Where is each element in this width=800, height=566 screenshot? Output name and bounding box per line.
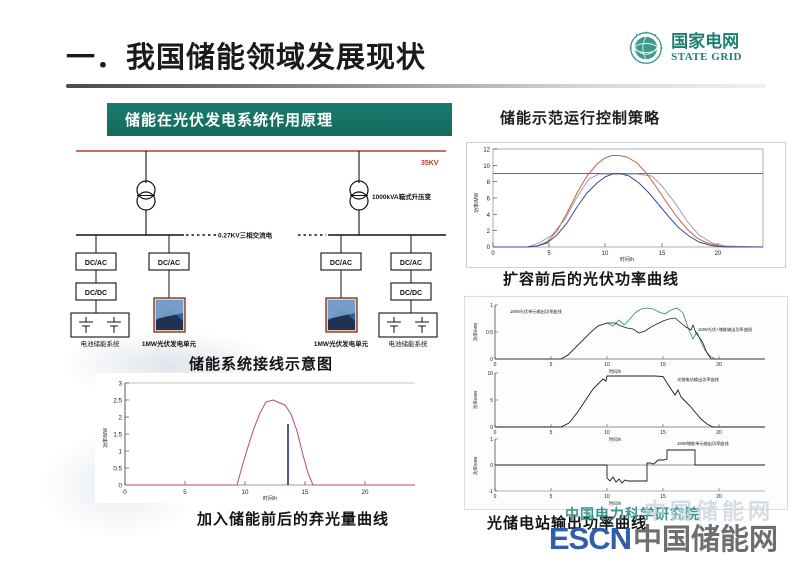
svg-text:5: 5 <box>550 430 553 436</box>
left-section-banner-label: 储能在光伏发电系统作用原理 <box>125 109 333 130</box>
svg-text:DC/AC: DC/AC <box>85 260 107 267</box>
svg-text:DC/AC: DC/AC <box>330 260 352 267</box>
chart-curtailment: 32.5 21.5 10.5 0 05 1015 20 功率/MW 时间/h <box>95 373 425 503</box>
svg-text:DC/AC: DC/AC <box>158 260 180 267</box>
svg-text:功率/MW: 功率/MW <box>472 456 479 475</box>
svg-text:功率/MW: 功率/MW <box>473 192 480 213</box>
page-title: 一．我国储能领域发展现状 <box>66 34 426 76</box>
svg-text:0.27KV三相交流电: 0.27KV三相交流电 <box>218 231 273 240</box>
svg-text:20: 20 <box>716 362 722 368</box>
chart-curtailment-caption: 加入储能前后的弃光量曲线 <box>197 508 389 529</box>
svg-text:电池储能系统: 电池储能系统 <box>389 339 429 348</box>
svg-text:0: 0 <box>490 463 493 469</box>
svg-text:5: 5 <box>547 251 551 257</box>
svg-text:0: 0 <box>491 251 495 257</box>
svg-text:电池储能系统: 电池储能系统 <box>81 339 121 348</box>
svg-text:35KV: 35KV <box>421 160 439 167</box>
svg-text:DC/DC: DC/DC <box>85 290 107 297</box>
slide-root: 一．我国储能领域发展现状 国家电网 STATE GRID <box>0 0 800 566</box>
svg-text:12: 12 <box>483 148 490 154</box>
svg-text:10: 10 <box>242 489 249 496</box>
svg-text:1: 1 <box>119 449 123 456</box>
svg-text:功率/MW: 功率/MW <box>472 322 479 341</box>
svg-text:3: 3 <box>119 381 123 388</box>
svg-text:DC/AC: DC/AC <box>400 260 422 267</box>
svg-text:0.5: 0.5 <box>113 466 122 473</box>
svg-text:15: 15 <box>660 362 666 368</box>
svg-text:0: 0 <box>494 430 497 436</box>
chart-pv-power: 1210 86 42 0 05 1015 20 功率/MW 时间/h <box>466 142 786 268</box>
svg-text:2: 2 <box>487 229 491 235</box>
svg-text:2.5: 2.5 <box>113 398 122 405</box>
svg-text:15: 15 <box>660 430 666 436</box>
watermark-escn-en: ESCN <box>549 521 631 557</box>
left-section-banner: 储能在光伏发电系统作用原理 <box>107 103 452 136</box>
logo-text-en: STATE GRID <box>671 52 742 63</box>
logo-text-cn: 国家电网 <box>671 33 742 50</box>
svg-text:10: 10 <box>487 371 493 377</box>
svg-text:时间/h: 时间/h <box>263 495 277 502</box>
svg-text:1000kVA箱式升压变: 1000kVA箱式升压变 <box>372 192 432 201</box>
svg-text:10: 10 <box>483 164 490 170</box>
svg-text:0: 0 <box>494 362 497 368</box>
watermark-escn: ESCN 中国储能网 <box>549 516 778 558</box>
svg-text:1MW光伏发电单元: 1MW光伏发电单元 <box>142 339 197 348</box>
wiring-diagram-caption: 储能系统接线示意图 <box>189 353 333 374</box>
svg-text:10: 10 <box>604 430 610 436</box>
svg-text:5: 5 <box>490 398 493 404</box>
svg-text:5: 5 <box>183 489 187 496</box>
chart-pv-power-caption: 扩容前后的光伏功率曲线 <box>503 268 679 289</box>
svg-text:20: 20 <box>715 251 722 257</box>
svg-text:DC/DC: DC/DC <box>400 290 422 297</box>
svg-text:6: 6 <box>487 197 491 203</box>
svg-text:1MW光伏单元输出功率曲线: 1MW光伏单元输出功率曲线 <box>510 308 562 315</box>
svg-text:20: 20 <box>362 489 369 496</box>
svg-text:10: 10 <box>604 494 610 500</box>
svg-text:0: 0 <box>123 489 127 496</box>
svg-text:20: 20 <box>716 430 722 436</box>
svg-text:0: 0 <box>119 483 123 490</box>
svg-text:4: 4 <box>487 213 491 219</box>
wiring-diagram: 35KV 1000kVA箱式升压变 0.27KV三相交流电 <box>66 143 456 355</box>
svg-text:0: 0 <box>487 245 491 251</box>
svg-text:0.5: 0.5 <box>486 330 493 336</box>
svg-text:15: 15 <box>302 489 309 496</box>
watermark-escn-cn: 中国储能网 <box>633 516 778 558</box>
svg-text:0: 0 <box>494 494 497 500</box>
svg-text:功率/MW: 功率/MW <box>472 390 479 409</box>
svg-text:2: 2 <box>119 415 123 422</box>
svg-text:1.5: 1.5 <box>113 432 122 439</box>
svg-text:15: 15 <box>659 251 666 257</box>
svg-text:8: 8 <box>487 180 491 186</box>
svg-text:5: 5 <box>550 494 553 500</box>
svg-text:光储电站输出功率曲线: 光储电站输出功率曲线 <box>677 376 720 383</box>
svg-text:-1: -1 <box>489 489 494 495</box>
globe-icon <box>628 30 664 66</box>
svg-text:5: 5 <box>550 362 553 368</box>
title-divider <box>66 84 766 88</box>
svg-text:时间/h: 时间/h <box>609 368 622 375</box>
svg-text:10: 10 <box>602 251 609 257</box>
right-section-heading: 储能示范运行控制策略 <box>500 107 660 128</box>
svg-text:1: 1 <box>490 303 493 309</box>
chart-station-strategy: 10.50 0510 1520 功率/MW 时间/h <box>464 296 788 510</box>
svg-text:时间/h: 时间/h <box>620 256 634 263</box>
svg-text:1MW储能单元输出功率曲线: 1MW储能单元输出功率曲线 <box>677 440 729 447</box>
svg-text:功率/MW: 功率/MW <box>102 427 109 448</box>
svg-text:1: 1 <box>490 437 493 443</box>
svg-text:10: 10 <box>604 362 610 368</box>
state-grid-logo: 国家电网 STATE GRID <box>628 30 742 66</box>
svg-text:1MW光伏发电单元: 1MW光伏发电单元 <box>314 339 369 348</box>
svg-text:时间/h: 时间/h <box>609 436 622 443</box>
svg-text:1MW光伏+储能输出功率曲线: 1MW光伏+储能输出功率曲线 <box>698 326 753 333</box>
